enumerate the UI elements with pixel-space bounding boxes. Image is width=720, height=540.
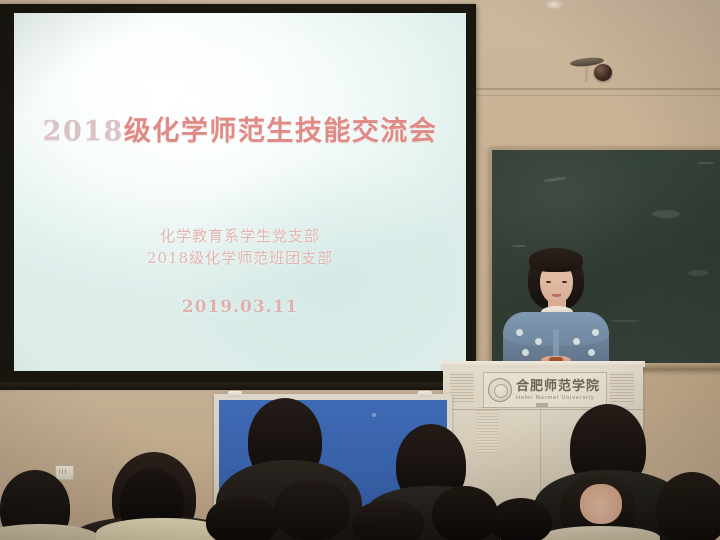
podium-plaque-cn: 合肥师范学院 [516,379,600,394]
notice-board-clip-left [228,391,242,397]
slide-subtitle: 化学教育系学生党支部 2018级化学师范班团支部 [14,225,466,269]
sweater-dot [592,329,599,336]
slide-title-rest: 级化学师范生技能交流会 [124,116,438,147]
speaker-mouth [552,294,561,297]
projection-screen-frame: 2018级化学师范生技能交流会 化学教育系学生党支部 2018级化学师范班团支部… [0,4,476,384]
speaker-eye-left [546,281,551,283]
chalk-mark [652,210,680,218]
wall-power-outlet [55,465,74,480]
notice-board-pin [372,413,376,417]
chalk-mark [698,162,714,164]
chalk-mark [512,245,526,247]
projection-screen: 2018级化学师范生技能交流会 化学教育系学生党支部 2018级化学师范班团支部… [14,13,466,371]
security-camera-icon [594,64,612,81]
podium-latch [536,403,548,407]
slide-title: 2018级化学师范生技能交流会 [14,109,466,148]
chalk-mark [610,320,640,322]
podium-plaque-en: Hefei Normal University [516,394,600,402]
podium-speaker-grille-left [450,372,474,402]
podium-vent-left [476,405,498,453]
wall-seam-lower [470,95,720,96]
sweater-dot [588,349,595,356]
university-seal-icon [488,378,512,402]
slide-date: 2019.03.11 [14,297,466,317]
podium-plaque-text: 合肥师范学院 Hefei Normal University [516,379,600,402]
sweater-dot [522,349,529,356]
slide-subtitle-line-1: 化学教育系学生党支部 [14,225,466,247]
chalk-mark [688,270,708,276]
podium-speaker-grille-right [610,372,634,402]
ceiling-fixture-icon [545,0,563,9]
slide-subtitle-line-2: 2018级化学师范班团支部 [14,247,466,269]
slide-title-year: 2018 [43,116,124,147]
chalk-mark [544,176,566,182]
podium-top-edge [441,361,645,367]
sweater-dot [516,329,523,336]
speaker-eye-right [562,281,567,283]
sweater-dot [573,338,580,345]
wall-seam-upper [470,88,720,90]
speaker-bangs [529,248,583,272]
sweater-dot [535,338,542,345]
classroom-photo-scene: 2018级化学师范生技能交流会 化学教育系学生党支部 2018级化学师范班团支部… [0,0,720,540]
notice-board-clip-right [418,391,432,397]
